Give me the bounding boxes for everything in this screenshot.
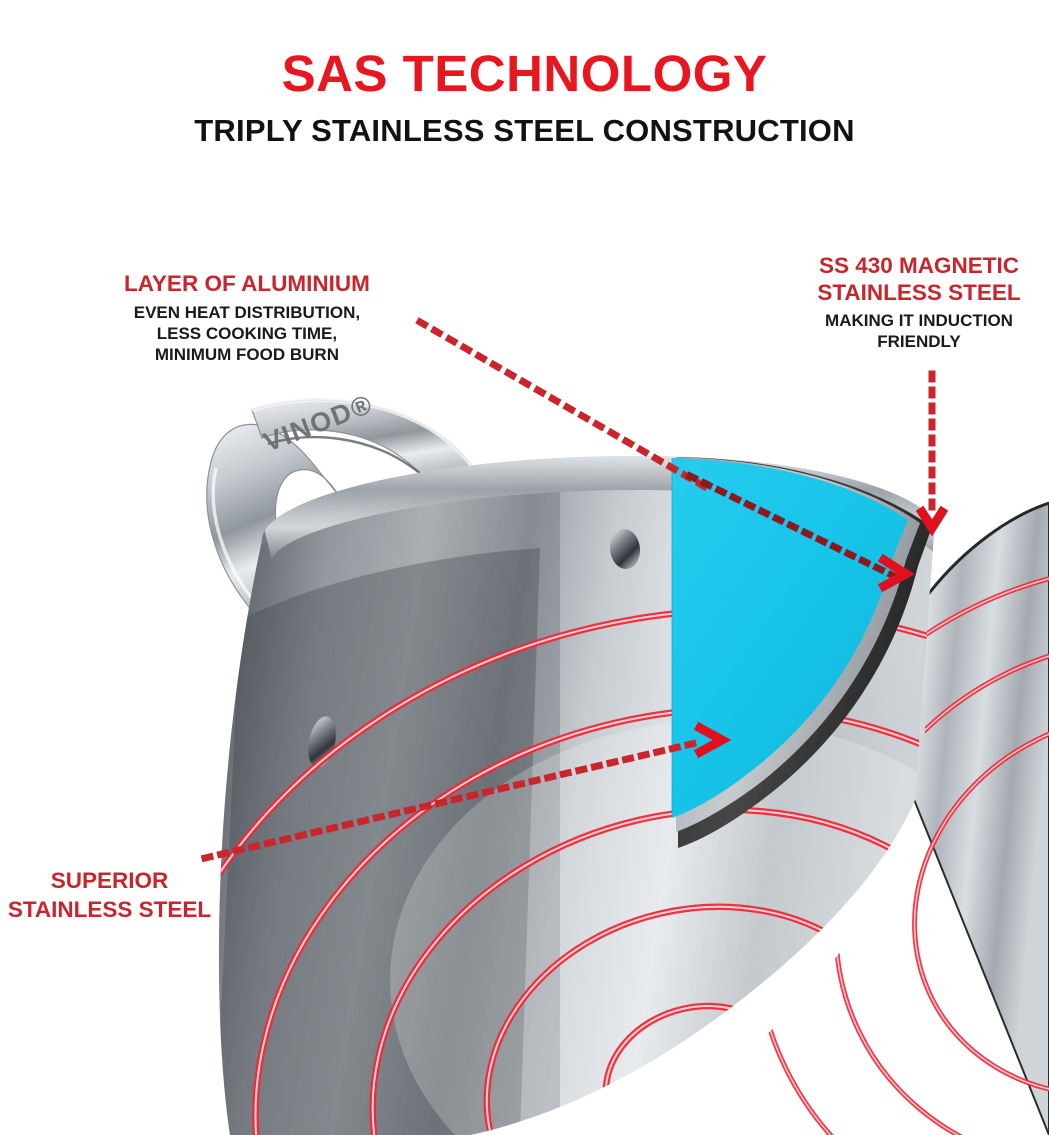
annotation-heading-ss430: SS 430 MAGNETIC STAINLESS STEEL: [793, 253, 1045, 306]
annotation-body-aluminium: EVEN HEAT DISTRIBUTION, LESS COOKING TIM…: [124, 302, 370, 366]
annotation-body-line: MAKING IT INDUCTION: [793, 310, 1045, 331]
annotation-heading-aluminium: LAYER OF ALUMINIUM: [124, 271, 370, 298]
annotation-heading-line: SUPERIOR: [0, 866, 227, 895]
annotation-body-line: MINIMUM FOOD BURN: [124, 344, 370, 365]
annotation-heading-line: STAINLESS STEEL: [793, 280, 1045, 307]
cookware-cutaway-illustration: VINOD®: [0, 0, 1049, 1135]
annotation-heading-superior: SUPERIOR STAINLESS STEEL: [0, 866, 227, 925]
annotation-body-line: LESS COOKING TIME,: [124, 323, 370, 344]
annotation-body-line: FRIENDLY: [793, 331, 1045, 352]
annotation-heading-line: STAINLESS STEEL: [0, 895, 227, 924]
annotation-ss-430-magnetic-stainless-steel: SS 430 MAGNETIC STAINLESS STEEL MAKING I…: [793, 253, 1045, 353]
annotation-heading-line: SS 430 MAGNETIC: [793, 253, 1045, 280]
sas-technology-infographic: SAS TECHNOLOGY TRIPLY STAINLESS STEEL CO…: [0, 0, 1049, 1135]
annotation-layer-of-aluminium: LAYER OF ALUMINIUM EVEN HEAT DISTRIBUTIO…: [124, 271, 370, 365]
annotation-body-ss430: MAKING IT INDUCTION FRIENDLY: [793, 310, 1045, 353]
annotation-body-line: EVEN HEAT DISTRIBUTION,: [124, 302, 370, 323]
annotation-superior-stainless-steel: SUPERIOR STAINLESS STEEL: [0, 866, 227, 925]
